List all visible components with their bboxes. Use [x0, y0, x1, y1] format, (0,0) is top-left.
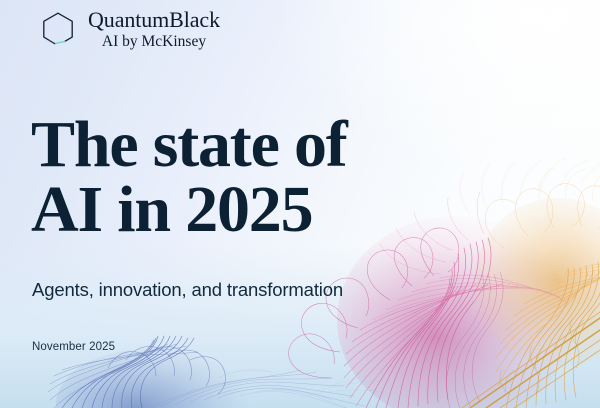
publication-date: November 2025: [32, 341, 115, 353]
brand-wordmark: QuantumBlack AI by McKinsey: [88, 8, 220, 50]
brand-tagline: AI by McKinsey: [102, 34, 206, 50]
page-title-line-1: The state of: [31, 112, 451, 177]
brand-name: QuantumBlack: [88, 9, 220, 31]
hexagon-outline-icon: [38, 10, 78, 48]
page-title-line-2: AI in 2025: [31, 177, 451, 242]
report-cover: QuantumBlack AI by McKinsey The state of…: [0, 0, 600, 408]
page-title: The state of AI in 2025: [31, 112, 451, 243]
page-subtitle: Agents, innovation, and transformation: [32, 279, 343, 301]
brand-lockup: QuantumBlack AI by McKinsey: [38, 8, 220, 50]
